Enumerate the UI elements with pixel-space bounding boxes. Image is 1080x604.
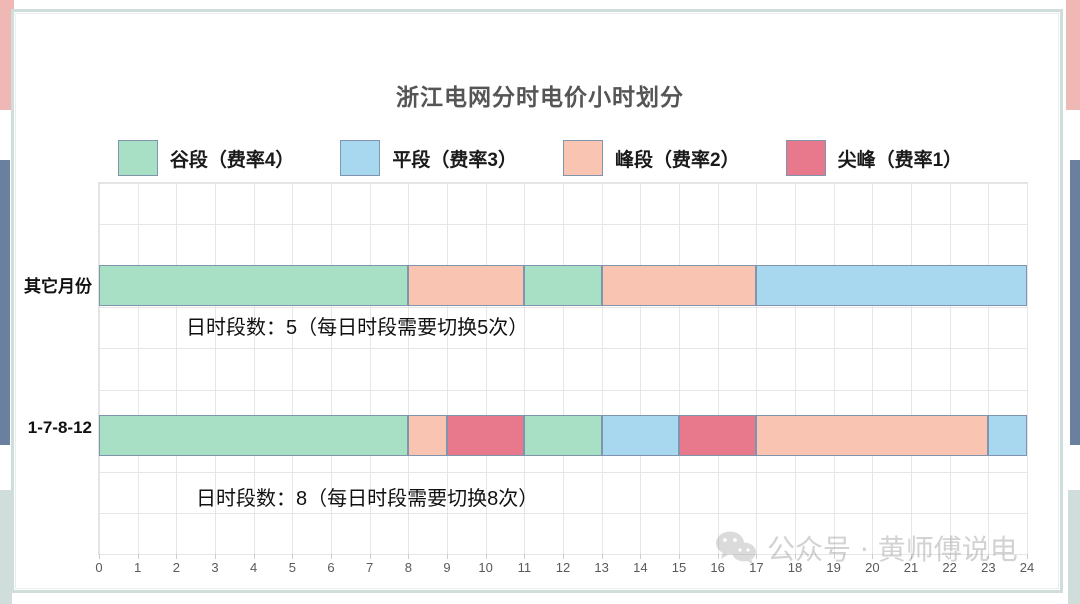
gridline-vertical xyxy=(138,183,139,554)
gridline-vertical xyxy=(872,183,873,554)
bar-segment-valley[interactable] xyxy=(99,415,408,456)
x-tick-mark xyxy=(447,554,448,559)
bar-segment-flat[interactable] xyxy=(988,415,1027,456)
x-tick-label: 16 xyxy=(703,560,733,575)
legend-item-peak[interactable]: 峰段（费率2） xyxy=(563,140,740,176)
bar-segment-flat[interactable] xyxy=(756,265,1027,306)
x-tick-label: 13 xyxy=(587,560,617,575)
x-tick-label: 9 xyxy=(432,560,462,575)
x-tick-mark xyxy=(563,554,564,559)
x-tick-mark xyxy=(524,554,525,559)
annotation-text-0: 日时段数：5（每日时段需要切换5次） xyxy=(186,311,528,340)
legend-swatch-valley xyxy=(118,140,158,176)
bar-segment-peak[interactable] xyxy=(408,415,447,456)
gridline-horizontal xyxy=(99,513,1027,514)
gridline-vertical xyxy=(988,183,989,554)
gridline-horizontal xyxy=(99,224,1027,225)
x-tick-mark xyxy=(292,554,293,559)
x-tick-mark xyxy=(872,554,873,559)
x-tick-mark xyxy=(215,554,216,559)
x-tick-mark xyxy=(718,554,719,559)
legend-swatch-flat xyxy=(340,140,380,176)
bar-segment-peak[interactable] xyxy=(602,265,757,306)
chart-title: 浙江电网分时电价小时划分 xyxy=(0,78,1080,112)
x-tick-mark xyxy=(254,554,255,559)
legend-item-sharp[interactable]: 尖峰（费率1） xyxy=(786,140,963,176)
x-tick-label: 11 xyxy=(509,560,539,575)
x-tick-mark xyxy=(176,554,177,559)
x-tick-label: 6 xyxy=(316,560,346,575)
bar-segment-peak[interactable] xyxy=(408,265,524,306)
x-tick-mark xyxy=(640,554,641,559)
x-tick-mark xyxy=(795,554,796,559)
x-tick-mark xyxy=(679,554,680,559)
x-tick-mark xyxy=(331,554,332,559)
x-tick-label: 17 xyxy=(741,560,771,575)
x-tick-mark xyxy=(834,554,835,559)
category-label-0: 其它月份 xyxy=(0,272,92,297)
x-tick-label: 5 xyxy=(277,560,307,575)
legend-swatch-sharp xyxy=(786,140,826,176)
gridline-horizontal xyxy=(99,390,1027,391)
gridline-vertical xyxy=(950,183,951,554)
x-tick-label: 2 xyxy=(161,560,191,575)
x-tick-mark xyxy=(988,554,989,559)
x-tick-mark xyxy=(370,554,371,559)
gridline-vertical xyxy=(795,183,796,554)
bar-segment-peak[interactable] xyxy=(756,415,988,456)
x-tick-label: 0 xyxy=(84,560,114,575)
x-tick-label: 23 xyxy=(973,560,1003,575)
x-tick-mark xyxy=(408,554,409,559)
bar-row xyxy=(99,265,1027,306)
gridline-vertical xyxy=(718,183,719,554)
x-tick-mark xyxy=(99,554,100,559)
x-tick-label: 18 xyxy=(780,560,810,575)
gridline-vertical xyxy=(602,183,603,554)
category-label-1: 1-7-8-12 xyxy=(0,418,92,438)
bar-segment-valley[interactable] xyxy=(524,265,601,306)
x-tick-mark xyxy=(911,554,912,559)
x-tick-mark xyxy=(138,554,139,559)
x-tick-mark xyxy=(756,554,757,559)
x-tick-label: 15 xyxy=(664,560,694,575)
legend-label-valley: 谷段（费率4） xyxy=(170,145,295,172)
gridline-vertical xyxy=(679,183,680,554)
x-tick-label: 12 xyxy=(548,560,578,575)
bar-row xyxy=(99,415,1027,456)
bar-segment-sharp[interactable] xyxy=(679,415,756,456)
legend-item-flat[interactable]: 平段（费率3） xyxy=(340,140,517,176)
x-tick-mark xyxy=(486,554,487,559)
gridline-vertical xyxy=(640,183,641,554)
x-tick-label: 19 xyxy=(819,560,849,575)
legend-label-flat: 平段（费率3） xyxy=(392,145,517,172)
x-tick-label: 10 xyxy=(471,560,501,575)
gridline-horizontal xyxy=(99,472,1027,473)
gridline-vertical xyxy=(834,183,835,554)
x-tick-mark xyxy=(950,554,951,559)
bar-segment-sharp[interactable] xyxy=(447,415,524,456)
gridline-vertical xyxy=(1027,183,1028,554)
x-tick-mark xyxy=(1027,554,1028,559)
gridline-horizontal xyxy=(99,307,1027,308)
bar-segment-valley[interactable] xyxy=(524,415,601,456)
annotation-text-1: 日时段数：8（每日时段需要切换8次） xyxy=(196,482,538,511)
gridline-vertical xyxy=(99,183,100,554)
legend-item-valley[interactable]: 谷段（费率4） xyxy=(118,140,295,176)
legend-label-peak: 峰段（费率2） xyxy=(615,145,740,172)
x-tick-label: 14 xyxy=(625,560,655,575)
x-tick-label: 1 xyxy=(123,560,153,575)
legend-swatch-peak xyxy=(563,140,603,176)
legend-label-sharp: 尖峰（费率1） xyxy=(838,145,963,172)
gridline-horizontal xyxy=(99,348,1027,349)
x-tick-label: 7 xyxy=(355,560,385,575)
gridline-vertical xyxy=(563,183,564,554)
x-tick-label: 24 xyxy=(1012,560,1042,575)
chart-container: 浙江电网分时电价小时划分 谷段（费率4）平段（费率3）峰段（费率2）尖峰（费率1… xyxy=(0,0,1080,604)
x-tick-label: 8 xyxy=(393,560,423,575)
gridline-horizontal xyxy=(99,183,1027,184)
x-tick-label: 4 xyxy=(239,560,269,575)
x-tick-label: 20 xyxy=(857,560,887,575)
x-tick-label: 3 xyxy=(200,560,230,575)
bar-segment-valley[interactable] xyxy=(99,265,408,306)
gridline-vertical xyxy=(176,183,177,554)
chart-legend: 谷段（费率4）平段（费率3）峰段（费率2）尖峰（费率1） xyxy=(0,140,1080,176)
x-tick-mark xyxy=(602,554,603,559)
gridline-vertical xyxy=(756,183,757,554)
x-tick-label: 22 xyxy=(935,560,965,575)
bar-segment-flat[interactable] xyxy=(602,415,679,456)
gridline-vertical xyxy=(911,183,912,554)
x-tick-label: 21 xyxy=(896,560,926,575)
